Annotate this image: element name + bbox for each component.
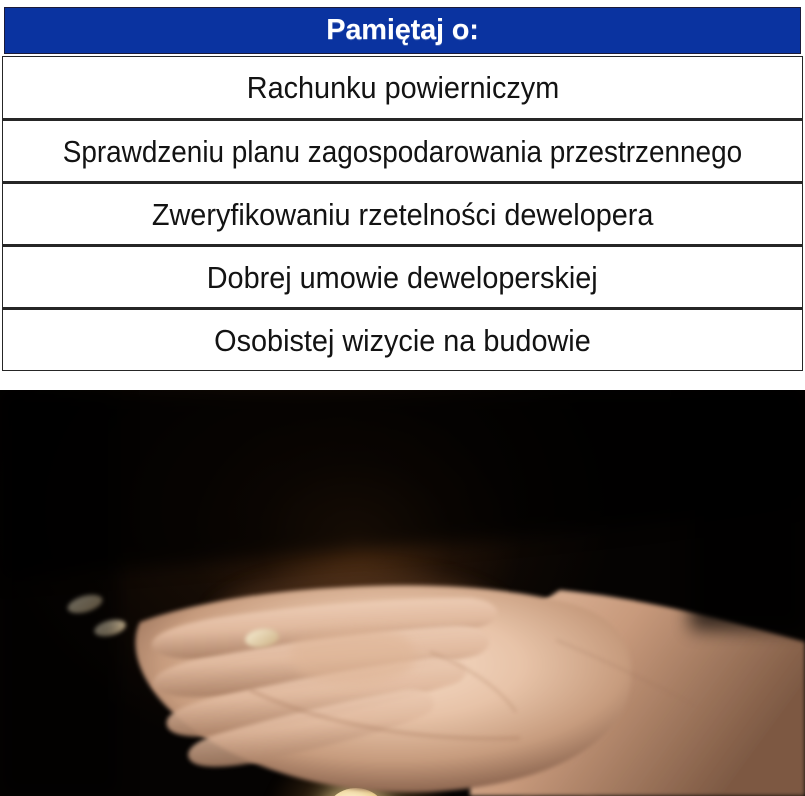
table-header: Pamiętaj o:: [4, 7, 801, 54]
table-row: Zweryfikowaniu rzetelności dewelopera: [2, 182, 803, 245]
open-palm-hand: [0, 390, 805, 796]
left-vignette: [0, 390, 120, 796]
table-row: Sprawdzeniu planu zagospodarowania przes…: [2, 119, 803, 182]
table-row-label: Sprawdzeniu planu zagospodarowania przes…: [63, 136, 742, 167]
poster-root: Pamiętaj o: Rachunku powierniczym Sprawd…: [0, 0, 805, 796]
right-vignette: [690, 390, 805, 630]
table-row-label: Osobistej wizycie na budowie: [214, 325, 591, 356]
table-row: Dobrej umowie deweloperskiej: [2, 245, 803, 308]
key-in-hand-photo: [0, 390, 805, 796]
table-row-label: Rachunku powierniczym: [246, 72, 558, 103]
hand-illustration: [0, 390, 805, 796]
table-row: Rachunku powierniczym: [2, 56, 803, 119]
top-vignette: [0, 390, 805, 580]
table-row-label: Dobrej umowie deweloperskiej: [207, 262, 598, 293]
reminder-table: Pamiętaj o: Rachunku powierniczym Sprawd…: [0, 0, 805, 390]
thumb-pad: [290, 628, 416, 685]
table-row-label: Zweryfikowaniu rzetelności dewelopera: [152, 199, 654, 230]
table-header-title: Pamiętaj o:: [326, 16, 479, 45]
table-row: Osobistej wizycie na budowie: [2, 308, 803, 371]
table-body: Rachunku powierniczym Sprawdzeniu planu …: [2, 56, 803, 371]
